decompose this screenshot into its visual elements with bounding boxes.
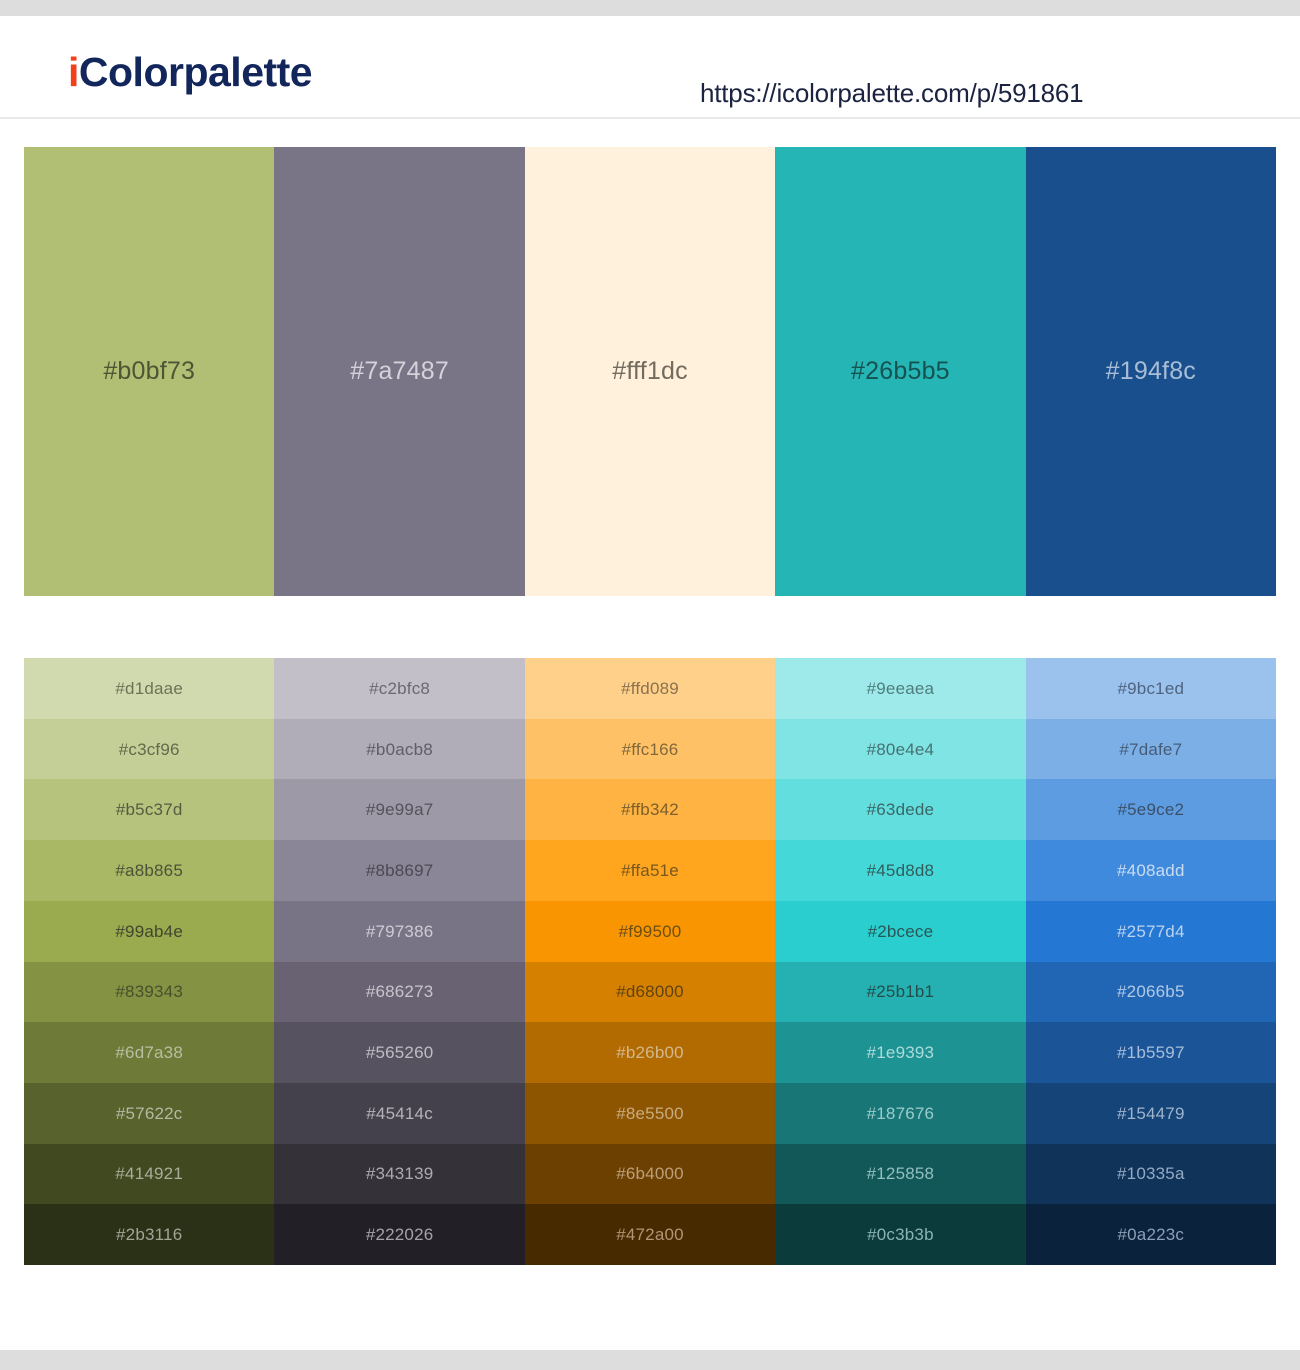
shade-hex-label: #2b3116 xyxy=(116,1226,182,1243)
shade-hex-label: #8e5500 xyxy=(616,1105,684,1122)
shade-swatch[interactable]: #99ab4e xyxy=(24,901,274,962)
shade-swatch[interactable]: #b0acb8 xyxy=(274,719,524,780)
shade-hex-label: #45414c xyxy=(366,1105,433,1122)
shade-hex-label: #57622c xyxy=(116,1105,183,1122)
shade-hex-label: #c3cf96 xyxy=(119,741,180,758)
logo-text-colorpalette: Colorpalette xyxy=(79,49,312,95)
shade-swatch[interactable]: #187676 xyxy=(775,1083,1025,1144)
shade-column: #ffd089#ffc166#ffb342#ffa51e#f99500#d680… xyxy=(525,658,775,1265)
shade-hex-label: #154479 xyxy=(1117,1105,1185,1122)
shade-hex-label: #839343 xyxy=(115,983,183,1000)
shade-hex-label: #c2bfc8 xyxy=(369,680,430,697)
shade-swatch[interactable]: #ffb342 xyxy=(525,779,775,840)
shade-hex-label: #2066b5 xyxy=(1117,983,1185,1000)
shade-swatch[interactable]: #1e9393 xyxy=(775,1022,1025,1083)
shade-swatch[interactable]: #0a223c xyxy=(1026,1204,1276,1265)
main-color-swatch[interactable]: #194f8c xyxy=(1026,147,1276,596)
shade-swatch[interactable]: #2577d4 xyxy=(1026,901,1276,962)
shade-hex-label: #125858 xyxy=(867,1165,935,1182)
shade-hex-label: #45d8d8 xyxy=(867,862,935,879)
shades-grid: #d1daae#c3cf96#b5c37d#a8b865#99ab4e#8393… xyxy=(24,658,1276,1265)
shade-hex-label: #b5c37d xyxy=(116,801,183,818)
site-logo[interactable]: iColorpalette xyxy=(68,52,312,93)
shade-hex-label: #222026 xyxy=(366,1226,434,1243)
shade-swatch[interactable]: #80e4e4 xyxy=(775,719,1025,780)
shade-swatch[interactable]: #25b1b1 xyxy=(775,962,1025,1023)
shade-swatch[interactable]: #9eeaea xyxy=(775,658,1025,719)
shade-hex-label: #9eeaea xyxy=(867,680,935,697)
shade-swatch[interactable]: #343139 xyxy=(274,1144,524,1205)
shade-hex-label: #1e9393 xyxy=(867,1044,935,1061)
logo-letter-i: i xyxy=(68,49,79,95)
shade-swatch[interactable]: #2b3116 xyxy=(24,1204,274,1265)
shade-swatch[interactable]: #8e5500 xyxy=(525,1083,775,1144)
shade-swatch[interactable]: #ffd089 xyxy=(525,658,775,719)
shade-swatch[interactable]: #797386 xyxy=(274,901,524,962)
shade-swatch[interactable]: #ffc166 xyxy=(525,719,775,780)
shade-swatch[interactable]: #45d8d8 xyxy=(775,840,1025,901)
shade-hex-label: #ffa51e xyxy=(621,862,679,879)
shade-swatch[interactable]: #472a00 xyxy=(525,1204,775,1265)
main-color-swatch-strip: #b0bf73#7a7487#fff1dc#26b5b5#194f8c xyxy=(24,147,1276,596)
shade-hex-label: #6b4000 xyxy=(616,1165,684,1182)
shade-hex-label: #63dede xyxy=(867,801,935,818)
shade-hex-label: #9e99a7 xyxy=(366,801,434,818)
shade-hex-label: #d1daae xyxy=(115,680,183,697)
site-header: iColorpalette https://icolorpalette.com/… xyxy=(0,16,1300,119)
shade-hex-label: #ffc166 xyxy=(622,741,679,758)
shade-hex-label: #2bcece xyxy=(868,923,934,940)
shade-swatch[interactable]: #1b5597 xyxy=(1026,1022,1276,1083)
shade-hex-label: #99ab4e xyxy=(115,923,183,940)
shade-swatch[interactable]: #9bc1ed xyxy=(1026,658,1276,719)
shade-column: #9bc1ed#7dafe7#5e9ce2#408add#2577d4#2066… xyxy=(1026,658,1276,1265)
shade-hex-label: #343139 xyxy=(366,1165,434,1182)
shade-hex-label: #d68000 xyxy=(616,983,684,1000)
main-color-swatch[interactable]: #26b5b5 xyxy=(775,147,1025,596)
shade-hex-label: #414921 xyxy=(115,1165,183,1182)
shade-swatch[interactable]: #b26b00 xyxy=(525,1022,775,1083)
shade-hex-label: #25b1b1 xyxy=(867,983,935,1000)
shade-swatch[interactable]: #63dede xyxy=(775,779,1025,840)
shade-hex-label: #f99500 xyxy=(619,923,682,940)
shade-swatch[interactable]: #7dafe7 xyxy=(1026,719,1276,780)
shade-swatch[interactable]: #686273 xyxy=(274,962,524,1023)
shade-swatch[interactable]: #d68000 xyxy=(525,962,775,1023)
shade-swatch[interactable]: #2066b5 xyxy=(1026,962,1276,1023)
shade-swatch[interactable]: #c3cf96 xyxy=(24,719,274,780)
shade-hex-label: #408add xyxy=(1117,862,1185,879)
shade-hex-label: #10335a xyxy=(1117,1165,1185,1182)
shade-swatch[interactable]: #414921 xyxy=(24,1144,274,1205)
footer-strip xyxy=(0,1350,1300,1370)
shade-column: #9eeaea#80e4e4#63dede#45d8d8#2bcece#25b1… xyxy=(775,658,1025,1265)
shade-swatch[interactable]: #f99500 xyxy=(525,901,775,962)
shade-swatch[interactable]: #45414c xyxy=(274,1083,524,1144)
shade-hex-label: #b26b00 xyxy=(616,1044,684,1061)
shade-swatch[interactable]: #839343 xyxy=(24,962,274,1023)
page-url-text: https://icolorpalette.com/p/591861 xyxy=(700,78,1083,109)
shade-hex-label: #2577d4 xyxy=(1117,923,1185,940)
shade-swatch[interactable]: #ffa51e xyxy=(525,840,775,901)
shade-hex-label: #5e9ce2 xyxy=(1118,801,1185,818)
shade-swatch[interactable]: #a8b865 xyxy=(24,840,274,901)
shade-swatch[interactable]: #565260 xyxy=(274,1022,524,1083)
shade-hex-label: #ffd089 xyxy=(621,680,679,697)
shade-hex-label: #ffb342 xyxy=(621,801,679,818)
shade-column: #d1daae#c3cf96#b5c37d#a8b865#99ab4e#8393… xyxy=(24,658,274,1265)
shade-hex-label: #472a00 xyxy=(616,1226,684,1243)
shade-swatch[interactable]: #154479 xyxy=(1026,1083,1276,1144)
shade-swatch[interactable]: #b5c37d xyxy=(24,779,274,840)
shade-swatch[interactable]: #9e99a7 xyxy=(274,779,524,840)
shade-swatch[interactable]: #222026 xyxy=(274,1204,524,1265)
main-color-swatch[interactable]: #fff1dc xyxy=(525,147,775,596)
top-browser-strip xyxy=(0,0,1300,16)
main-color-swatch[interactable]: #7a7487 xyxy=(274,147,524,596)
shade-hex-label: #80e4e4 xyxy=(867,741,935,758)
shade-hex-label: #0c3b3b xyxy=(867,1226,934,1243)
shade-swatch[interactable]: #125858 xyxy=(775,1144,1025,1205)
main-swatch-hex-label: #194f8c xyxy=(1106,359,1196,384)
shade-hex-label: #a8b865 xyxy=(115,862,183,879)
main-swatch-hex-label: #26b5b5 xyxy=(851,359,950,384)
shade-hex-label: #0a223c xyxy=(1118,1226,1185,1243)
shade-swatch[interactable]: #0c3b3b xyxy=(775,1204,1025,1265)
shade-swatch[interactable]: #6d7a38 xyxy=(24,1022,274,1083)
shade-swatch[interactable]: #5e9ce2 xyxy=(1026,779,1276,840)
main-swatch-hex-label: #7a7487 xyxy=(350,359,449,384)
shade-swatch[interactable]: #c2bfc8 xyxy=(274,658,524,719)
main-swatch-hex-label: #b0bf73 xyxy=(103,359,195,384)
shade-hex-label: #187676 xyxy=(867,1105,935,1122)
shade-hex-label: #686273 xyxy=(366,983,434,1000)
shade-hex-label: #7dafe7 xyxy=(1119,741,1182,758)
shade-hex-label: #b0acb8 xyxy=(366,741,433,758)
color-palette-page: iColorpalette https://icolorpalette.com/… xyxy=(0,0,1300,1370)
shade-hex-label: #9bc1ed xyxy=(1118,680,1185,697)
shade-swatch[interactable]: #2bcece xyxy=(775,901,1025,962)
shade-hex-label: #797386 xyxy=(366,923,434,940)
shade-column: #c2bfc8#b0acb8#9e99a7#8b8697#797386#6862… xyxy=(274,658,524,1265)
shade-swatch[interactable]: #10335a xyxy=(1026,1144,1276,1205)
shade-hex-label: #565260 xyxy=(366,1044,434,1061)
main-color-swatch[interactable]: #b0bf73 xyxy=(24,147,274,596)
shade-swatch[interactable]: #d1daae xyxy=(24,658,274,719)
shade-swatch[interactable]: #8b8697 xyxy=(274,840,524,901)
main-swatch-hex-label: #fff1dc xyxy=(612,359,688,384)
shade-swatch[interactable]: #408add xyxy=(1026,840,1276,901)
shade-hex-label: #1b5597 xyxy=(1117,1044,1185,1061)
shade-hex-label: #6d7a38 xyxy=(115,1044,183,1061)
shade-swatch[interactable]: #57622c xyxy=(24,1083,274,1144)
shade-hex-label: #8b8697 xyxy=(366,862,434,879)
shade-swatch[interactable]: #6b4000 xyxy=(525,1144,775,1205)
